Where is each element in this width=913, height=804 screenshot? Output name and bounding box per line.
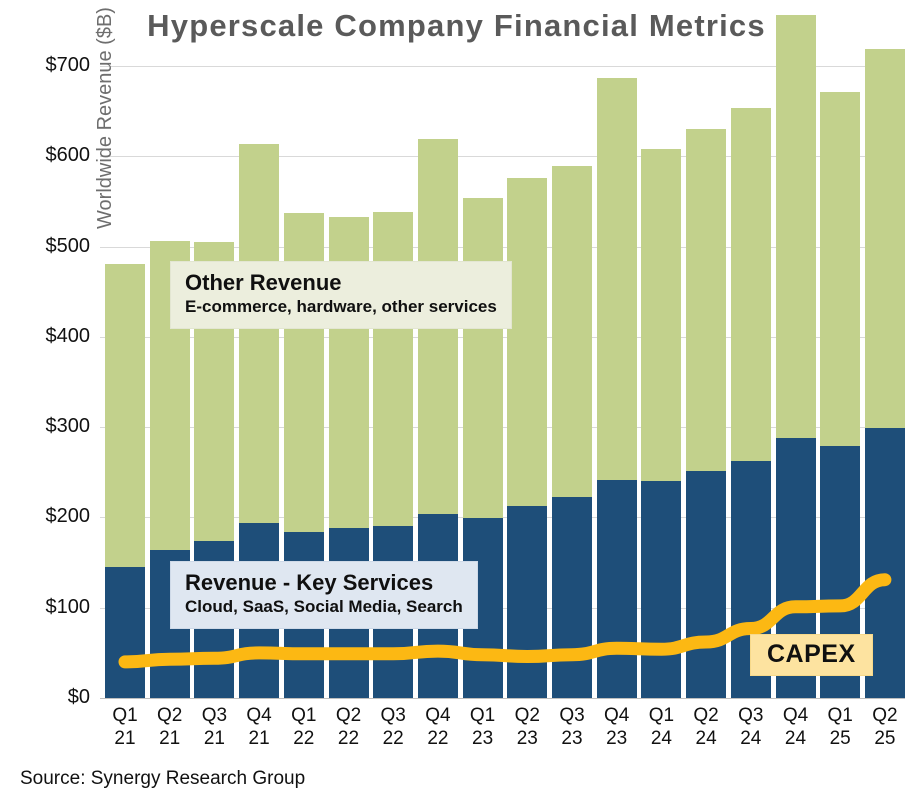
bar-segment-other-revenue bbox=[105, 264, 145, 567]
bar-segment-key-services bbox=[552, 497, 592, 698]
annotation-other-revenue: Other Revenue E-commerce, hardware, othe… bbox=[170, 261, 512, 329]
bar-segment-other-revenue bbox=[463, 198, 503, 519]
bar-segment-other-revenue bbox=[597, 78, 637, 480]
bar-stack bbox=[820, 92, 860, 698]
annotation-other-revenue-subtitle: E-commerce, hardware, other services bbox=[185, 296, 497, 318]
bar-segment-other-revenue bbox=[865, 49, 905, 428]
annotation-key-services: Revenue - Key Services Cloud, SaaS, Soci… bbox=[170, 561, 478, 629]
bar-stack bbox=[731, 108, 771, 698]
x-axis-tick-year: 25 bbox=[859, 727, 911, 750]
y-axis-tick-label: $200 bbox=[10, 505, 90, 528]
bar-stack bbox=[865, 49, 905, 698]
bar-segment-other-revenue bbox=[820, 92, 860, 446]
bar-stack bbox=[597, 78, 637, 698]
bar-segment-other-revenue bbox=[507, 178, 547, 506]
bar-segment-key-services bbox=[105, 567, 145, 698]
page-title: Hyperscale Company Financial Metrics bbox=[0, 8, 913, 44]
bar-segment-other-revenue bbox=[731, 108, 771, 461]
y-axis-tick-label: $700 bbox=[10, 54, 90, 77]
bar-segment-other-revenue bbox=[686, 129, 726, 471]
y-axis-tick-label: $0 bbox=[10, 686, 90, 709]
y-axis-tick-label: $500 bbox=[10, 235, 90, 258]
bar-segment-other-revenue bbox=[552, 166, 592, 496]
bar-segment-other-revenue bbox=[373, 212, 413, 526]
annotation-capex-title: CAPEX bbox=[767, 641, 856, 667]
y-axis-tick-label: $300 bbox=[10, 415, 90, 438]
bar-stack bbox=[552, 166, 592, 698]
x-axis-tick-quarter: Q2 bbox=[859, 704, 911, 727]
gridline bbox=[100, 698, 905, 699]
annotation-key-services-title: Revenue - Key Services bbox=[185, 570, 463, 596]
bar-stack bbox=[507, 178, 547, 698]
bar-stack bbox=[776, 15, 816, 698]
x-axis-tick-label: Q225 bbox=[859, 704, 911, 750]
bar-segment-other-revenue bbox=[239, 144, 279, 523]
annotation-other-revenue-title: Other Revenue bbox=[185, 270, 497, 296]
y-axis-tick-label: $400 bbox=[10, 325, 90, 348]
bar-stack bbox=[686, 129, 726, 698]
bar-stack bbox=[105, 264, 145, 698]
chart-container: Hyperscale Company Financial Metrics $70… bbox=[0, 0, 913, 804]
bar-segment-other-revenue bbox=[776, 15, 816, 438]
annotation-key-services-subtitle: Cloud, SaaS, Social Media, Search bbox=[185, 596, 463, 618]
y-axis-tick-label: $600 bbox=[10, 144, 90, 167]
bar-segment-key-services bbox=[641, 481, 681, 698]
bar-segment-key-services bbox=[507, 506, 547, 698]
bar-segment-other-revenue bbox=[641, 149, 681, 481]
bar-segment-key-services bbox=[686, 471, 726, 698]
y-axis-tick-label: $100 bbox=[10, 596, 90, 619]
bar-segment-key-services bbox=[597, 480, 637, 698]
bar-stack bbox=[641, 149, 681, 698]
source-note: Source: Synergy Research Group bbox=[20, 768, 305, 790]
annotation-capex: CAPEX bbox=[750, 634, 873, 676]
